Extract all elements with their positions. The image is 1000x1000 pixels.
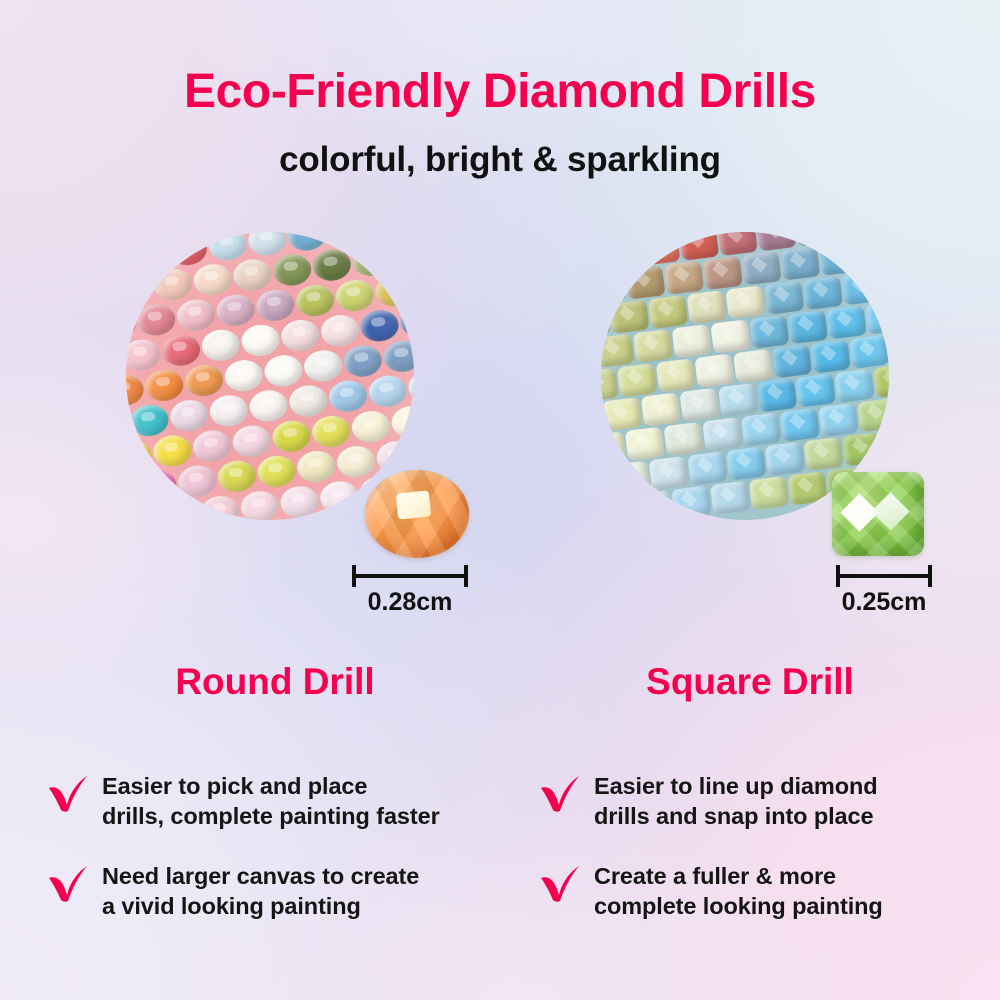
round-drill-highlight [396,490,432,519]
square-bead [601,333,634,367]
check-icon [46,862,90,904]
square-bead [741,251,781,285]
square-bead [601,431,626,465]
square-bead [710,319,750,353]
benefit-list-item: Need larger canvas to createa vivid look… [46,860,516,922]
round-bead [239,489,280,520]
square-bead [610,460,650,494]
square-bead [787,310,827,344]
square-bead [795,373,835,407]
round-bead [406,368,414,403]
square-bead [780,246,820,280]
round-bead [254,287,295,322]
square-bead [818,403,858,437]
round-bead [246,232,287,257]
square-bead [873,364,889,398]
square-bead [601,495,634,520]
square-bead [841,271,881,305]
square-bead [671,324,711,358]
square-drill-closeup [832,472,924,556]
round-bead [334,278,375,313]
page-title: Eco-Friendly Diamond Drills [0,64,1000,119]
round-bead [126,307,137,342]
round-bead [367,373,408,408]
round-bead [375,439,414,474]
round-bead [373,273,414,308]
square-bead [757,378,797,412]
benefit-text: Need larger canvas to createa vivid look… [102,860,419,922]
round-bead [207,232,248,262]
square-bead [857,237,889,271]
square-bead [609,299,649,333]
square-bead [842,432,882,466]
benefit-list-item: Create a fuller & morecomplete looking p… [538,860,998,922]
round-size-label: 0.28cm [330,588,490,617]
scale-line [836,574,932,578]
round-bead [160,332,201,367]
square-bead [764,280,804,314]
square-bead [865,300,889,334]
round-bead [192,262,233,297]
square-bead [826,305,866,339]
square-bead [726,446,766,480]
round-bead [159,498,200,520]
square-bead [880,266,889,300]
round-bead [295,449,336,484]
square-drill-heading: Square Drill [580,661,920,703]
round-bead [128,403,169,438]
round-bead [350,409,391,444]
check-icon [46,772,90,814]
round-bead [311,247,352,282]
round-bead [208,393,249,428]
square-bead [602,397,642,431]
round-bead [126,272,154,307]
square-bead [702,417,742,451]
square-bead [664,260,704,294]
square-bead [718,383,758,417]
round-bead [135,302,176,337]
round-bead [294,282,335,317]
square-bead [671,485,711,519]
round-bead [175,297,216,332]
square-bead [803,437,843,471]
square-bead [648,456,688,490]
square-bead [772,344,812,378]
square-bead [756,232,796,251]
round-bead [310,413,351,448]
round-bead [351,242,392,277]
square-bead [625,265,665,299]
square-bead [679,387,719,421]
square-bead [694,353,734,387]
square-bead [640,232,680,265]
round-bead [151,433,192,468]
round-bead [167,232,208,267]
round-bead [239,322,280,357]
square-bead [640,392,680,426]
round-bead [176,463,217,498]
check-icon [538,862,582,904]
round-bead [359,308,400,343]
round-bead [126,372,145,407]
square-drill-benefits: Easier to line up diamonddrills and snap… [538,770,998,949]
round-bead [126,473,138,508]
round-bead-field [126,232,414,520]
scale-cap-right [928,565,932,587]
square-bead [632,490,672,520]
square-bead [810,339,850,373]
round-bead [405,232,414,238]
round-bead [279,318,320,353]
scale-cap-right [464,565,468,587]
square-bead [749,314,789,348]
benefit-text: Easier to line up diamonddrills and snap… [594,770,877,832]
benefit-list-item: Easier to pick and placedrills, complete… [46,770,516,832]
round-bead [335,444,376,479]
square-bead [849,334,889,368]
round-bead [398,303,414,338]
round-bead [199,494,240,520]
round-bead [390,237,414,272]
round-bead [278,484,319,519]
round-bead [390,404,414,439]
square-bead [857,398,889,432]
round-bead [302,348,343,383]
round-drill-benefits: Easier to pick and placedrills, complete… [46,770,516,949]
square-bead [648,294,688,328]
round-bead [127,236,168,271]
round-drill-closeup [365,470,469,558]
check-icon [538,772,582,814]
round-bead [381,338,414,373]
square-size-label: 0.25cm [804,588,964,617]
benefit-text: Easier to pick and placedrills, complete… [102,770,440,832]
round-bead [126,241,129,276]
round-drill-photo [126,232,414,520]
round-bead [126,438,153,473]
square-bead [733,348,773,382]
square-bead [702,256,742,290]
round-bead [342,343,383,378]
round-bead [248,388,289,423]
round-bead [168,398,209,433]
square-bead [601,270,626,304]
round-bead [126,503,161,520]
square-bead [633,329,673,363]
square-bead [741,412,781,446]
round-bead [327,378,368,413]
round-bead [200,327,241,362]
round-bead [413,268,414,303]
round-bead [319,313,360,348]
round-bead [318,479,359,514]
scale-bar-icon-round [352,565,468,587]
square-bead [663,422,703,456]
round-bead [216,458,257,493]
round-bead [270,418,311,453]
square-bead [624,426,664,460]
square-bead [678,232,718,260]
square-bead [710,480,750,514]
round-bead [143,367,184,402]
square-bead [834,368,874,402]
round-bead [126,337,162,372]
square-bead [748,476,788,510]
square-bead [601,236,641,270]
round-drill-heading: Round Drill [110,661,440,703]
page-subtitle: colorful, bright & sparkling [0,140,1000,180]
round-bead [256,453,297,488]
round-bead [287,383,328,418]
square-bead [872,232,889,237]
round-bead [215,292,256,327]
round-bead [223,358,264,393]
round-bead [152,267,193,302]
square-bead [601,368,618,402]
round-bead [136,468,177,503]
round-bead [231,257,272,292]
square-bead [617,363,657,397]
square-bead [764,441,804,475]
round-bead [231,423,272,458]
square-bead [725,285,765,319]
square-bead [686,290,726,324]
scale-line [352,574,468,578]
square-bead [687,451,727,485]
benefit-text: Create a fuller & morecomplete looking p… [594,860,883,922]
round-bead [286,232,327,252]
round-bead [183,363,224,398]
benefit-list-item: Easier to line up diamonddrills and snap… [538,770,998,832]
square-bead [655,358,695,392]
square-bead [787,471,827,505]
round-bead [271,252,312,287]
round-bead [126,407,130,442]
square-bead [779,407,819,441]
square-bead [818,241,858,275]
square-bead [802,275,842,309]
round-bead [262,353,303,388]
scale-bar-icon-square [836,565,932,587]
square-bead [717,232,757,256]
round-bead [191,428,232,463]
